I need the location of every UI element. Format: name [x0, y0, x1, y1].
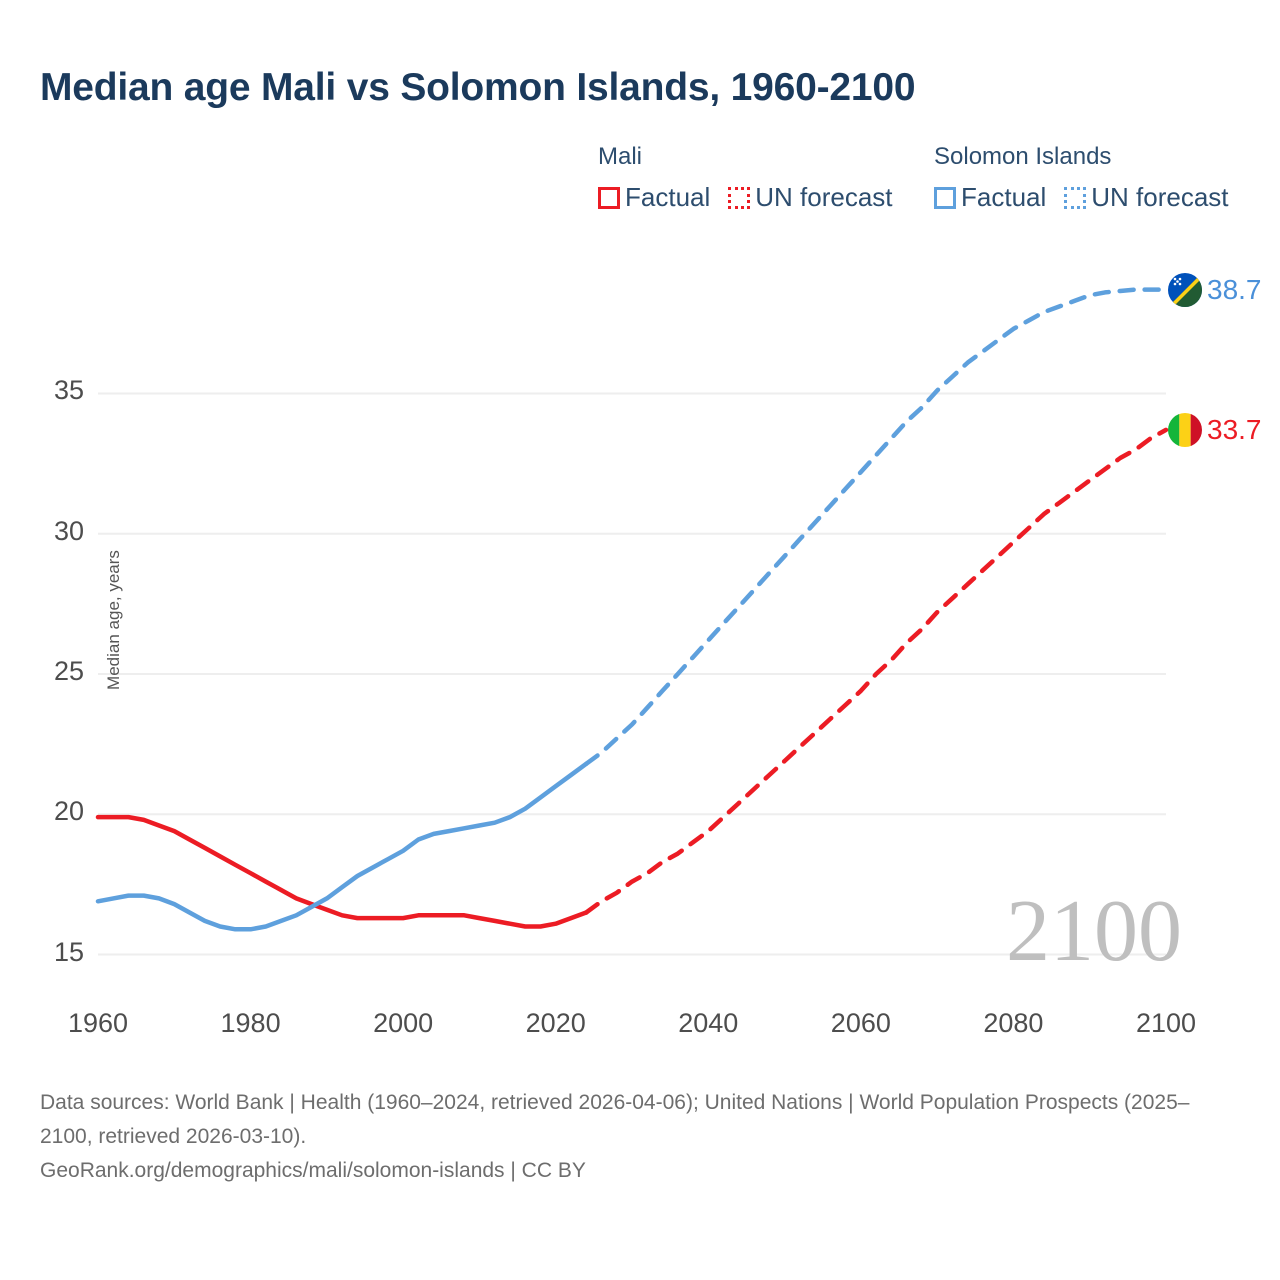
- footer-attribution: GeoRank.org/demographics/mali/solomon-is…: [40, 1154, 1200, 1188]
- data-series-layer: [98, 290, 1166, 930]
- y-axis-label: Median age, years: [104, 550, 124, 690]
- y-axis-tick-label: 30: [14, 516, 84, 547]
- footer-sources: Data sources: World Bank | Health (1960–…: [40, 1086, 1200, 1188]
- y-axis-tick-label: 20: [14, 796, 84, 827]
- chart-page: Median age Mali vs Solomon Islands, 1960…: [0, 0, 1280, 1280]
- x-axis-tick-label: 2040: [648, 1008, 768, 1039]
- endpoint-marker-solomon-islands: 38.7: [1168, 273, 1262, 307]
- y-axis-tick-label: 15: [14, 937, 84, 968]
- x-axis-tick-label: 2100: [1106, 1008, 1226, 1039]
- endpoint-value: 38.7: [1207, 274, 1262, 306]
- solomon-islands-flag-icon: [1168, 273, 1202, 307]
- series-line-mali-factual: [98, 817, 586, 926]
- y-axis-tick-label: 35: [14, 375, 84, 406]
- series-line-mali-forecast: [586, 430, 1166, 913]
- x-axis-tick-label: 2080: [953, 1008, 1073, 1039]
- x-axis-tick-label: 2020: [496, 1008, 616, 1039]
- y-axis-tick-label: 25: [14, 656, 84, 687]
- footer-data-sources: Data sources: World Bank | Health (1960–…: [40, 1086, 1200, 1154]
- endpoint-marker-mali: 33.7: [1168, 413, 1262, 447]
- series-line-solomon-islands-factual: [98, 764, 586, 930]
- x-axis-tick-label: 2060: [801, 1008, 921, 1039]
- x-axis-tick-label: 2000: [343, 1008, 463, 1039]
- endpoint-value: 33.7: [1207, 414, 1262, 446]
- x-axis-tick-label: 1980: [191, 1008, 311, 1039]
- x-axis-tick-label: 1960: [38, 1008, 158, 1039]
- mali-flag-icon: [1168, 413, 1202, 447]
- year-watermark: 2100: [1006, 888, 1182, 976]
- gridlines: [98, 393, 1166, 954]
- series-line-solomon-islands-forecast: [586, 290, 1166, 764]
